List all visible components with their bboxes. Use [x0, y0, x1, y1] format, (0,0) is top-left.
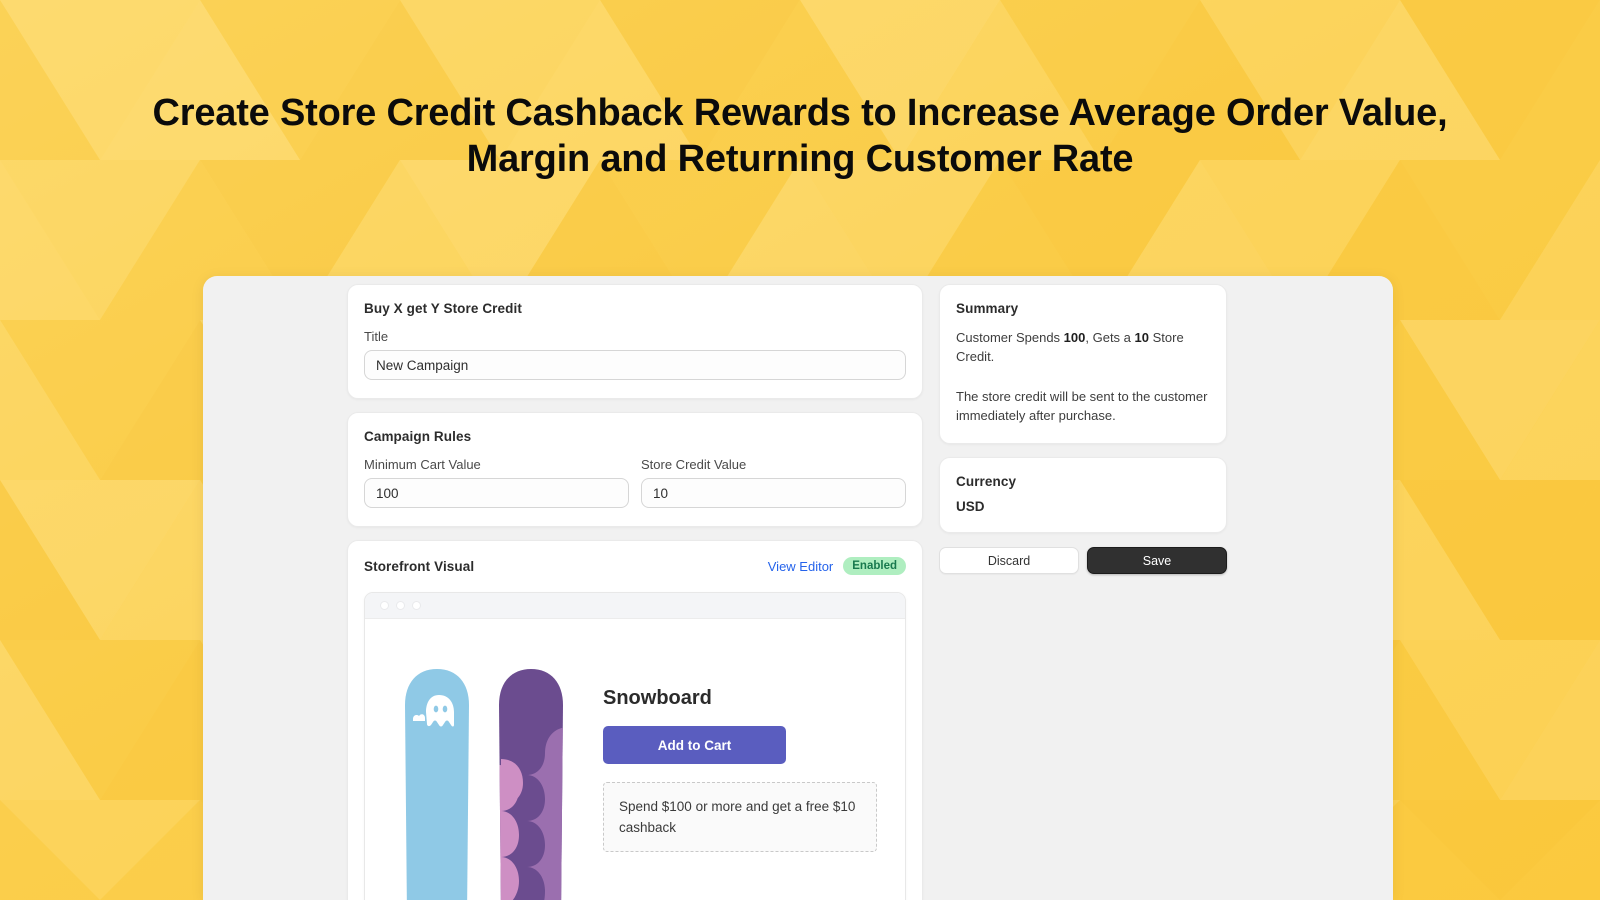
rules-fields-row: Minimum Cart Value Store Credit Value	[364, 444, 906, 508]
store-credit-field-group: Store Credit Value	[641, 444, 906, 508]
summary-spend-prefix: Customer Spends	[956, 330, 1064, 345]
app-window: Buy X get Y Store Credit Title Campaign …	[203, 276, 1393, 900]
summary-line-secondary: The store credit will be sent to the cus…	[956, 387, 1210, 425]
storefront-preview-browser: Snowboard Add to Cart Spend $100 or more…	[364, 592, 906, 900]
browser-dot-maximize-icon	[412, 601, 421, 610]
campaign-card: Buy X get Y Store Credit Title	[347, 284, 923, 399]
campaign-rules-card: Campaign Rules Minimum Cart Value Store …	[347, 412, 923, 527]
preview-content: Snowboard Add to Cart Spend $100 or more…	[365, 619, 905, 900]
storefront-card-title: Storefront Visual	[364, 559, 474, 574]
summary-card-title: Summary	[956, 301, 1210, 316]
min-cart-value-label: Minimum Cart Value	[364, 457, 629, 472]
product-title: Snowboard	[603, 687, 879, 710]
summary-spend-mid: , Gets a	[1085, 330, 1134, 345]
campaign-rules-title: Campaign Rules	[364, 429, 906, 444]
snowboard-purple-icon	[493, 667, 569, 900]
view-editor-link[interactable]: View Editor	[768, 559, 834, 574]
add-to-cart-button[interactable]: Add to Cart	[603, 726, 786, 764]
browser-dot-minimize-icon	[396, 601, 405, 610]
min-cart-field-group: Minimum Cart Value	[364, 444, 629, 508]
currency-card: Currency USD	[939, 457, 1227, 533]
summary-line-primary: Customer Spends 100, Gets a 10 Store Cre…	[956, 328, 1210, 366]
status-badge: Enabled	[843, 557, 906, 575]
browser-dot-close-icon	[380, 601, 389, 610]
summary-card: Summary Customer Spends 100, Gets a 10 S…	[939, 284, 1227, 444]
app-layout-grid: Buy X get Y Store Credit Title Campaign …	[347, 284, 1393, 900]
snowboard-blue-icon	[399, 667, 475, 900]
discard-button[interactable]: Discard	[939, 547, 1079, 574]
right-column: Summary Customer Spends 100, Gets a 10 S…	[939, 284, 1227, 900]
store-credit-value-input[interactable]	[641, 478, 906, 508]
product-details: Snowboard Add to Cart Spend $100 or more…	[603, 649, 879, 900]
page-headline: Create Store Credit Cashback Rewards to …	[0, 90, 1600, 182]
campaign-card-title: Buy X get Y Store Credit	[364, 301, 906, 316]
storefront-card-header: Storefront Visual View Editor Enabled	[364, 557, 906, 575]
form-actions: Discard Save	[939, 547, 1227, 574]
currency-card-title: Currency	[956, 474, 1210, 489]
storefront-visual-card: Storefront Visual View Editor Enabled	[347, 540, 923, 900]
summary-spend-amount: 100	[1064, 330, 1086, 345]
cashback-promo-message: Spend $100 or more and get a free $10 ca…	[603, 782, 877, 852]
snowboard-illustration	[399, 649, 569, 900]
browser-title-bar	[365, 593, 905, 619]
currency-value: USD	[956, 499, 1210, 514]
campaign-title-input[interactable]	[364, 350, 906, 380]
left-column: Buy X get Y Store Credit Title Campaign …	[347, 284, 923, 900]
storefront-header-actions: View Editor Enabled	[768, 557, 906, 575]
save-button[interactable]: Save	[1087, 547, 1227, 574]
title-field-label: Title	[364, 329, 906, 344]
min-cart-value-input[interactable]	[364, 478, 629, 508]
store-credit-value-label: Store Credit Value	[641, 457, 906, 472]
summary-credit-amount: 10	[1135, 330, 1149, 345]
